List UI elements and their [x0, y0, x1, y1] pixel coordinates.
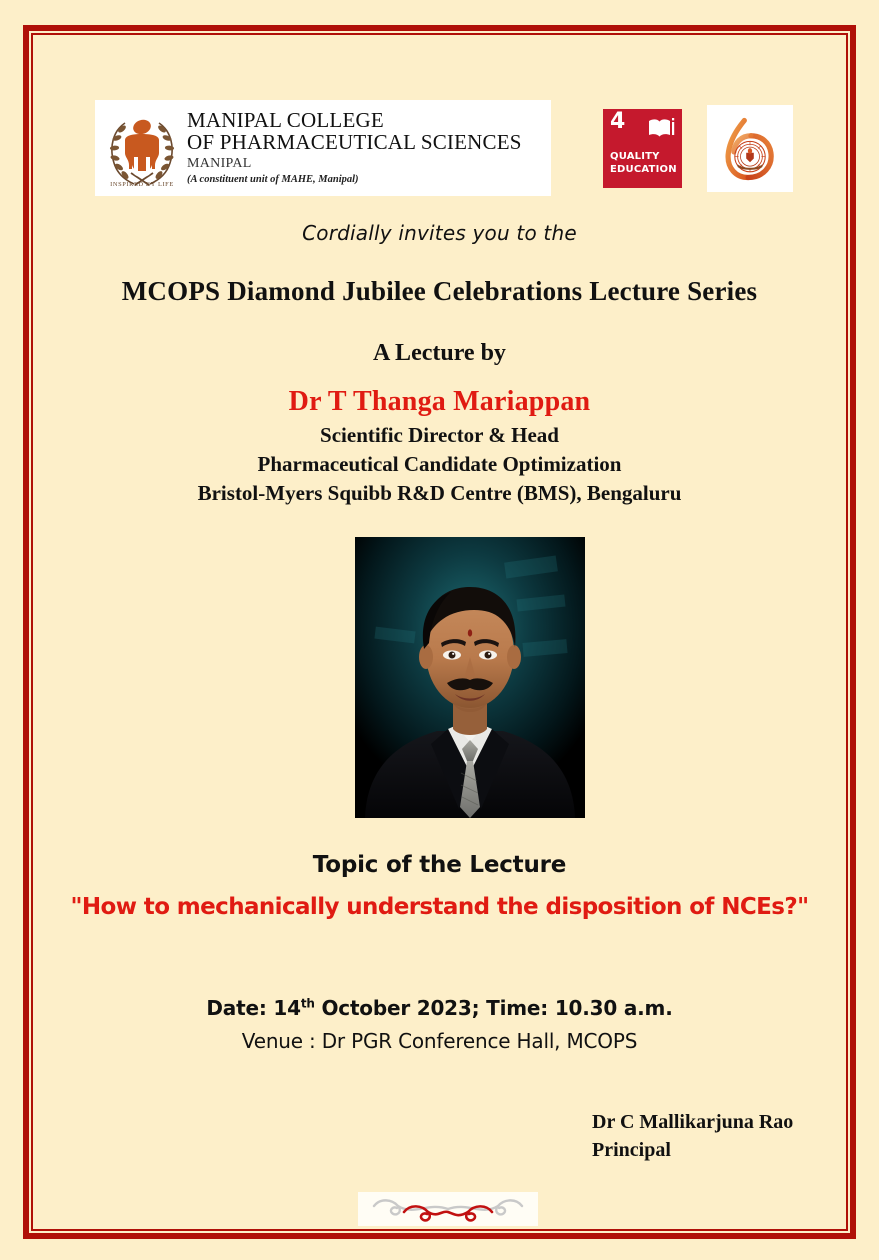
institution-affiliation: (A constituent unit of MAHE, Manipal): [187, 175, 522, 186]
institution-name-line2: OF PHARMACEUTICAL SCIENCES: [187, 132, 522, 153]
speaker-name: Dr T Thanga Mariappan: [0, 386, 879, 418]
speaker-role-line2: Pharmaceutical Candidate Optimization: [0, 452, 879, 477]
institution-city: MANIPAL: [187, 157, 522, 171]
mahe-inspired-by-life-icon: INSPIRED BY LIFE: [103, 107, 181, 189]
a-lecture-by-label: A Lecture by: [0, 340, 879, 367]
lecture-series-title: MCOPS Diamond Jubilee Celebrations Lectu…: [0, 276, 879, 307]
event-venue: Venue : Dr PGR Conference Hall, MCOPS: [0, 1029, 879, 1053]
open-book-icon: [647, 117, 675, 139]
sdg-label-line2: EDUCATION: [610, 164, 677, 177]
institution-name-line1: MANIPAL COLLEGE: [187, 110, 522, 131]
sdg-goal-4-badge: 4 QUALITY EDUCATION: [603, 109, 682, 188]
cordially-invites-text: Cordially invites you to the: [0, 221, 879, 245]
speaker-photo: [355, 537, 585, 818]
institution-logo-block: INSPIRED BY LIFE MANIPAL COLLEGE OF PHAR…: [95, 100, 551, 196]
signature-block: Dr C Mallikarjuna Rao Principal: [592, 1108, 793, 1164]
svg-text:INSPIRED BY LIFE: INSPIRED BY LIFE: [110, 181, 174, 188]
diamond-jubilee-60-icon: [707, 105, 793, 192]
event-date-suffix: October 2023; Time: 10.30 a.m.: [315, 996, 673, 1020]
topic-title: "How to mechanically understand the disp…: [0, 894, 879, 920]
decorative-flourish-icon: [358, 1192, 538, 1226]
topic-heading: Topic of the Lecture: [0, 852, 879, 878]
invitation-poster: INSPIRED BY LIFE MANIPAL COLLEGE OF PHAR…: [0, 0, 879, 1260]
sdg-number: 4: [610, 111, 625, 133]
header-logo-row: INSPIRED BY LIFE MANIPAL COLLEGE OF PHAR…: [0, 100, 879, 200]
speaker-organization: Bristol-Myers Squibb R&D Centre (BMS), B…: [0, 481, 879, 506]
sdg-label-line1: QUALITY: [610, 151, 677, 164]
speaker-role-line1: Scientific Director & Head: [0, 423, 879, 448]
event-date-ordinal: th: [301, 996, 315, 1010]
signatory-designation: Principal: [592, 1136, 793, 1164]
event-date-time: Date: 14th October 2023; Time: 10.30 a.m…: [0, 996, 879, 1020]
signatory-name: Dr C Mallikarjuna Rao: [592, 1108, 793, 1136]
event-date-prefix: Date: 14: [206, 996, 300, 1020]
event-details: Date: 14th October 2023; Time: 10.30 a.m…: [0, 996, 879, 1053]
sdg-label: QUALITY EDUCATION: [610, 151, 677, 176]
